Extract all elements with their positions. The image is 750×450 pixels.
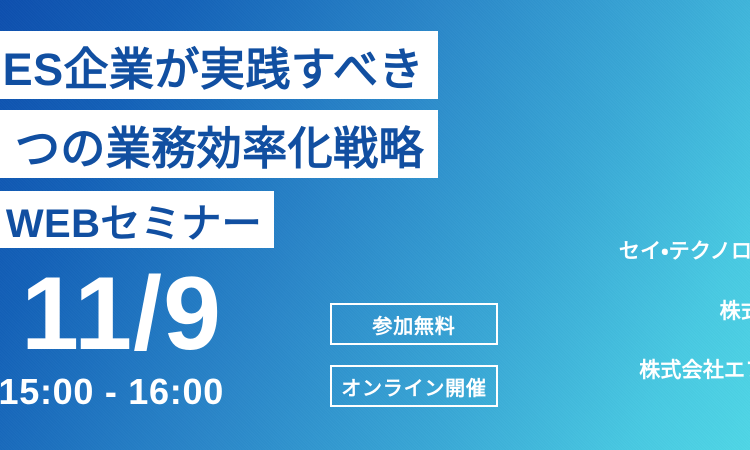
partner-separator-1-icon: × <box>416 273 750 291</box>
seminar-banner: ES企業が実践すべき つの業務効率化戦略 WEBセミナー 11/9 15:00 … <box>0 0 750 450</box>
partner-separator-2-icon: × <box>416 332 750 350</box>
headline-line-3: WEBセミナー <box>0 191 274 248</box>
partner-company-3: 株式会社エフ・ディー <box>416 359 750 383</box>
partner-company-2: 株式会社We <box>416 300 750 324</box>
partner-list: セイ・テクノロジーズ株 × 株式会社We × 株式会社エフ・ディー <box>416 240 750 383</box>
headline-line-1: ES企業が実践すべき <box>0 31 438 99</box>
event-date: 11/9 <box>0 262 230 366</box>
headline-line-2: つの業務効率化戦略 <box>0 110 438 178</box>
event-time: 15:00 - 16:00 <box>0 374 230 410</box>
date-block: 11/9 15:00 - 16:00 <box>0 262 230 410</box>
partner-company-1: セイ・テクノロジーズ株 <box>416 240 750 264</box>
